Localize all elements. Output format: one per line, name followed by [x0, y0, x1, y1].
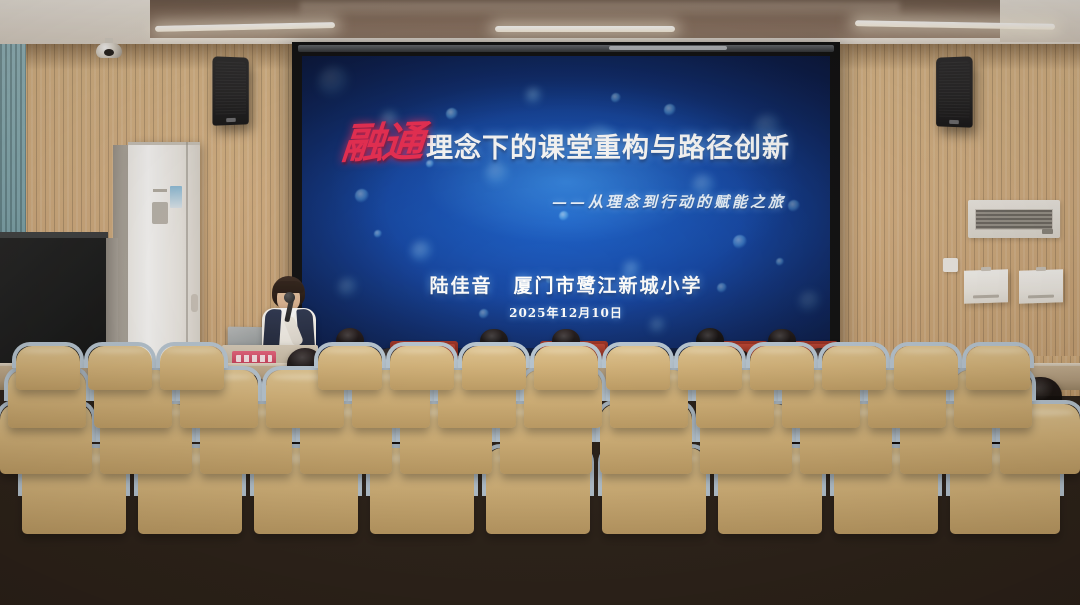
- ceiling-soffit-left: [0, 0, 150, 46]
- seat-trim: [314, 342, 386, 368]
- ac-seam: [186, 142, 188, 374]
- slide-presenter-line: 陆佳音 厦门市鹭江新城小学: [302, 271, 830, 298]
- slide-subtitle: ——从理念到行动的赋能之旅: [552, 191, 786, 212]
- auditorium-seat[interactable]: [678, 346, 742, 390]
- seat-trim: [818, 342, 890, 368]
- ceiling-sheen: [300, 2, 900, 18]
- ac-logo: [153, 189, 167, 192]
- speaker-grille: [939, 61, 970, 118]
- projected-slide: 融通 理念下的课堂重构与路径创新 ——从理念到行动的赋能之旅 陆佳音 厦门市鹭江…: [302, 56, 830, 356]
- auditorium-seat[interactable]: [606, 346, 670, 390]
- screen-top-rail: [298, 45, 834, 52]
- vent-control-button[interactable]: [1042, 229, 1053, 234]
- wall-shadow-left: [0, 44, 300, 70]
- speaker-badge: [227, 117, 236, 121]
- projection-screen-frame: 融通 理念下的课堂重构与路径创新 ——从理念到行动的赋能之旅 陆佳音 厦门市鹭江…: [292, 42, 840, 372]
- box-tab: [981, 267, 992, 271]
- auditorium-seat[interactable]: [318, 346, 382, 390]
- seat-trim: [674, 342, 746, 368]
- lecture-hall-scene: 融通 理念下的课堂重构与路径创新 ——从理念到行动的赋能之旅 陆佳音 厦门市鹭江…: [0, 0, 1080, 605]
- led-strip-light-center: [495, 26, 675, 32]
- seat-trim: [12, 342, 84, 368]
- auditorium-seat[interactable]: [966, 346, 1030, 390]
- seat-trim: [386, 342, 458, 368]
- seat-trim: [156, 342, 228, 368]
- auditorium-seat[interactable]: [894, 346, 958, 390]
- floor-standing-air-conditioner: [128, 142, 200, 374]
- ac-top-edge: [128, 142, 200, 145]
- ac-energy-label-sticker: [170, 186, 182, 208]
- wall-speaker-left: [212, 56, 248, 125]
- seat-trim: [84, 342, 156, 368]
- microphone-head-icon: [284, 292, 295, 303]
- slide-brush-title: 融通: [340, 121, 424, 166]
- slide-date: 2025年12月10日: [302, 304, 830, 321]
- box-tab: [1036, 267, 1047, 271]
- auditorium-seat[interactable]: [750, 346, 814, 390]
- ceiling-soffit-right: [1000, 0, 1080, 42]
- seat-trim: [962, 342, 1034, 368]
- slide-main-title: 理念下的课堂重构与路径创新: [426, 126, 790, 165]
- wall-switch-plate[interactable]: [943, 258, 958, 272]
- vent-slats: [975, 209, 1053, 230]
- seat-trim: [890, 342, 962, 368]
- wall-speaker-right: [936, 56, 973, 127]
- dome-security-camera-icon: [96, 38, 122, 58]
- speaker-grille: [215, 61, 246, 116]
- ac-handle: [191, 294, 198, 312]
- seat-trim: [602, 342, 674, 368]
- auditorium-seat[interactable]: [88, 346, 152, 390]
- auditorium-seat[interactable]: [534, 346, 598, 390]
- wall-mounted-box-2: [1019, 269, 1063, 304]
- slide-title-row: 融通 理念下的课堂重构与路径创新: [302, 122, 830, 165]
- box-slot: [973, 295, 999, 299]
- auditorium-seat[interactable]: [16, 346, 80, 390]
- auditorium-seat[interactable]: [160, 346, 224, 390]
- wall-air-vent: [968, 200, 1060, 238]
- speaker-badge: [950, 119, 959, 123]
- seat-trim: [746, 342, 818, 368]
- ac-display-panel: [152, 202, 168, 224]
- seat-trim: [530, 342, 602, 368]
- seat-trim: [458, 342, 530, 368]
- panel-top-glint: [0, 232, 108, 238]
- box-slot: [1028, 295, 1054, 299]
- audience-seating: [0, 352, 1080, 605]
- camera-lens: [104, 49, 114, 56]
- auditorium-seat[interactable]: [390, 346, 454, 390]
- wall-mounted-box-1: [964, 269, 1008, 304]
- auditorium-seat[interactable]: [462, 346, 526, 390]
- auditorium-seat[interactable]: [822, 346, 886, 390]
